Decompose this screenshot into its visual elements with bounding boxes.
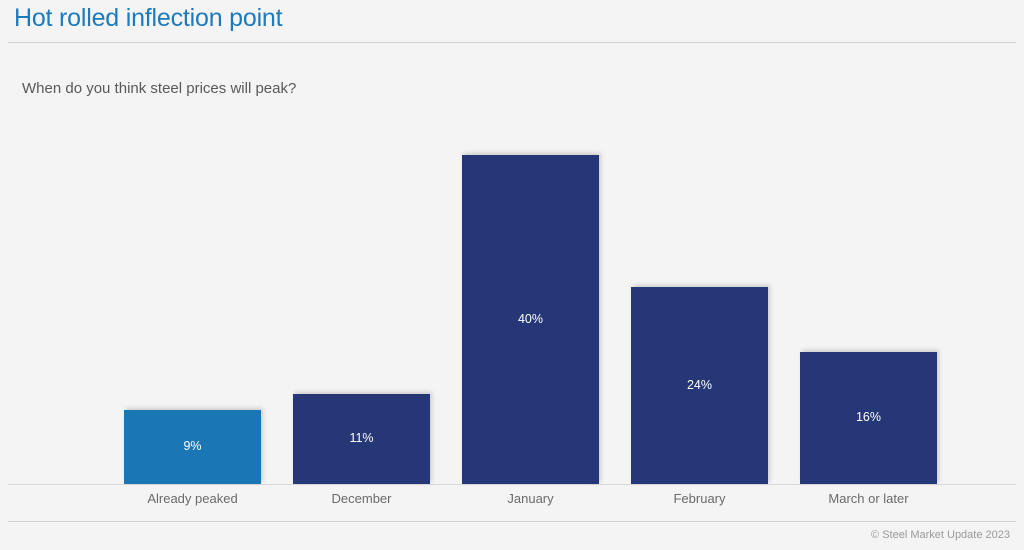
bar-value-label: 40%	[462, 312, 599, 326]
footer-divider	[8, 521, 1016, 522]
bar-value-label: 11%	[293, 431, 430, 445]
bar-chart: 9%11%40%24%16% Already peakedDecemberJan…	[0, 0, 1024, 550]
bar-december: 11%	[293, 394, 430, 484]
category-label-1: Already peaked	[124, 491, 261, 506]
bar-march-or-later: 16%	[800, 352, 937, 484]
category-label-5: March or later	[800, 491, 937, 506]
category-label-4: February	[631, 491, 768, 506]
category-axis-line	[8, 484, 1016, 485]
bar-value-label: 9%	[124, 439, 261, 453]
bar-value-label: 16%	[800, 410, 937, 424]
bar-february: 24%	[631, 287, 768, 484]
bar-already-peaked: 9%	[124, 410, 261, 484]
copyright-credit: © Steel Market Update 2023	[871, 529, 1010, 541]
bar-january: 40%	[462, 155, 599, 484]
category-label-3: January	[462, 491, 599, 506]
bar-value-label: 24%	[631, 378, 768, 392]
category-label-2: December	[293, 491, 430, 506]
